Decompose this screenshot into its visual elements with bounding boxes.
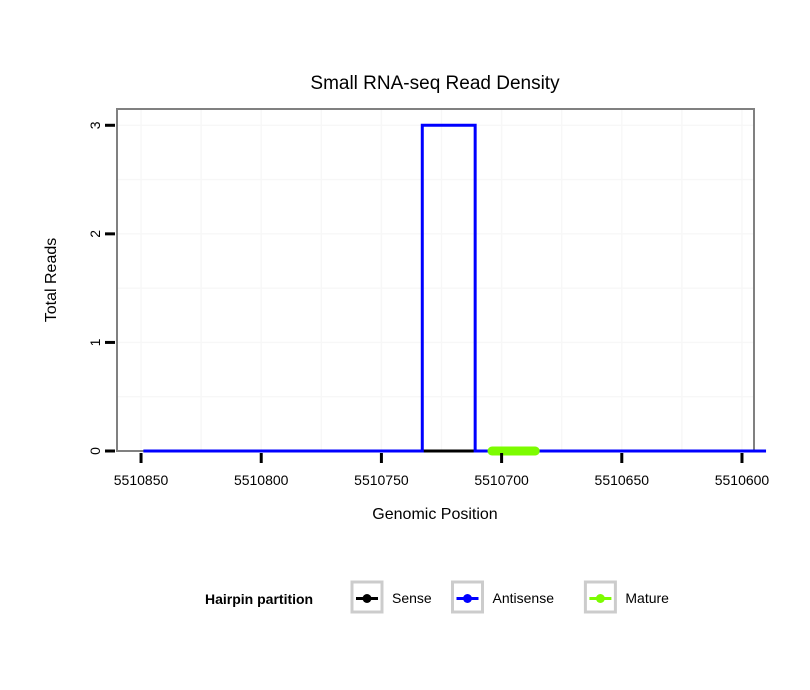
y-tick-label: 3 xyxy=(87,121,103,129)
legend-key-point xyxy=(463,594,472,603)
legend-entry-label: Sense xyxy=(392,590,432,606)
legend-title: Hairpin partition xyxy=(205,591,313,607)
legend-entry-label: Antisense xyxy=(493,590,555,606)
x-tick-label: 5510750 xyxy=(354,472,409,488)
x-tick-label: 5510850 xyxy=(114,472,169,488)
y-axis-title: Total Reads xyxy=(43,238,60,323)
legend-key-point xyxy=(596,594,605,603)
x-tick-label: 5510600 xyxy=(715,472,770,488)
y-tick-label: 1 xyxy=(87,338,103,346)
plot-panel-background xyxy=(117,109,754,451)
x-axis-title: Genomic Position xyxy=(372,506,497,523)
chart-title: Small RNA-seq Read Density xyxy=(310,73,560,94)
x-tick-label: 5510700 xyxy=(474,472,529,488)
legend-key-point xyxy=(363,594,372,603)
legend-entry-label: Mature xyxy=(625,590,669,606)
chart-container: Small RNA-seq Read Density 5510850551080… xyxy=(0,0,810,690)
y-tick-label: 2 xyxy=(87,230,103,238)
y-tick-label: 0 xyxy=(87,447,103,455)
x-tick-label: 5510800 xyxy=(234,472,289,488)
read-density-chart: Small RNA-seq Read Density 5510850551080… xyxy=(0,0,810,690)
x-tick-label: 5510650 xyxy=(595,472,650,488)
